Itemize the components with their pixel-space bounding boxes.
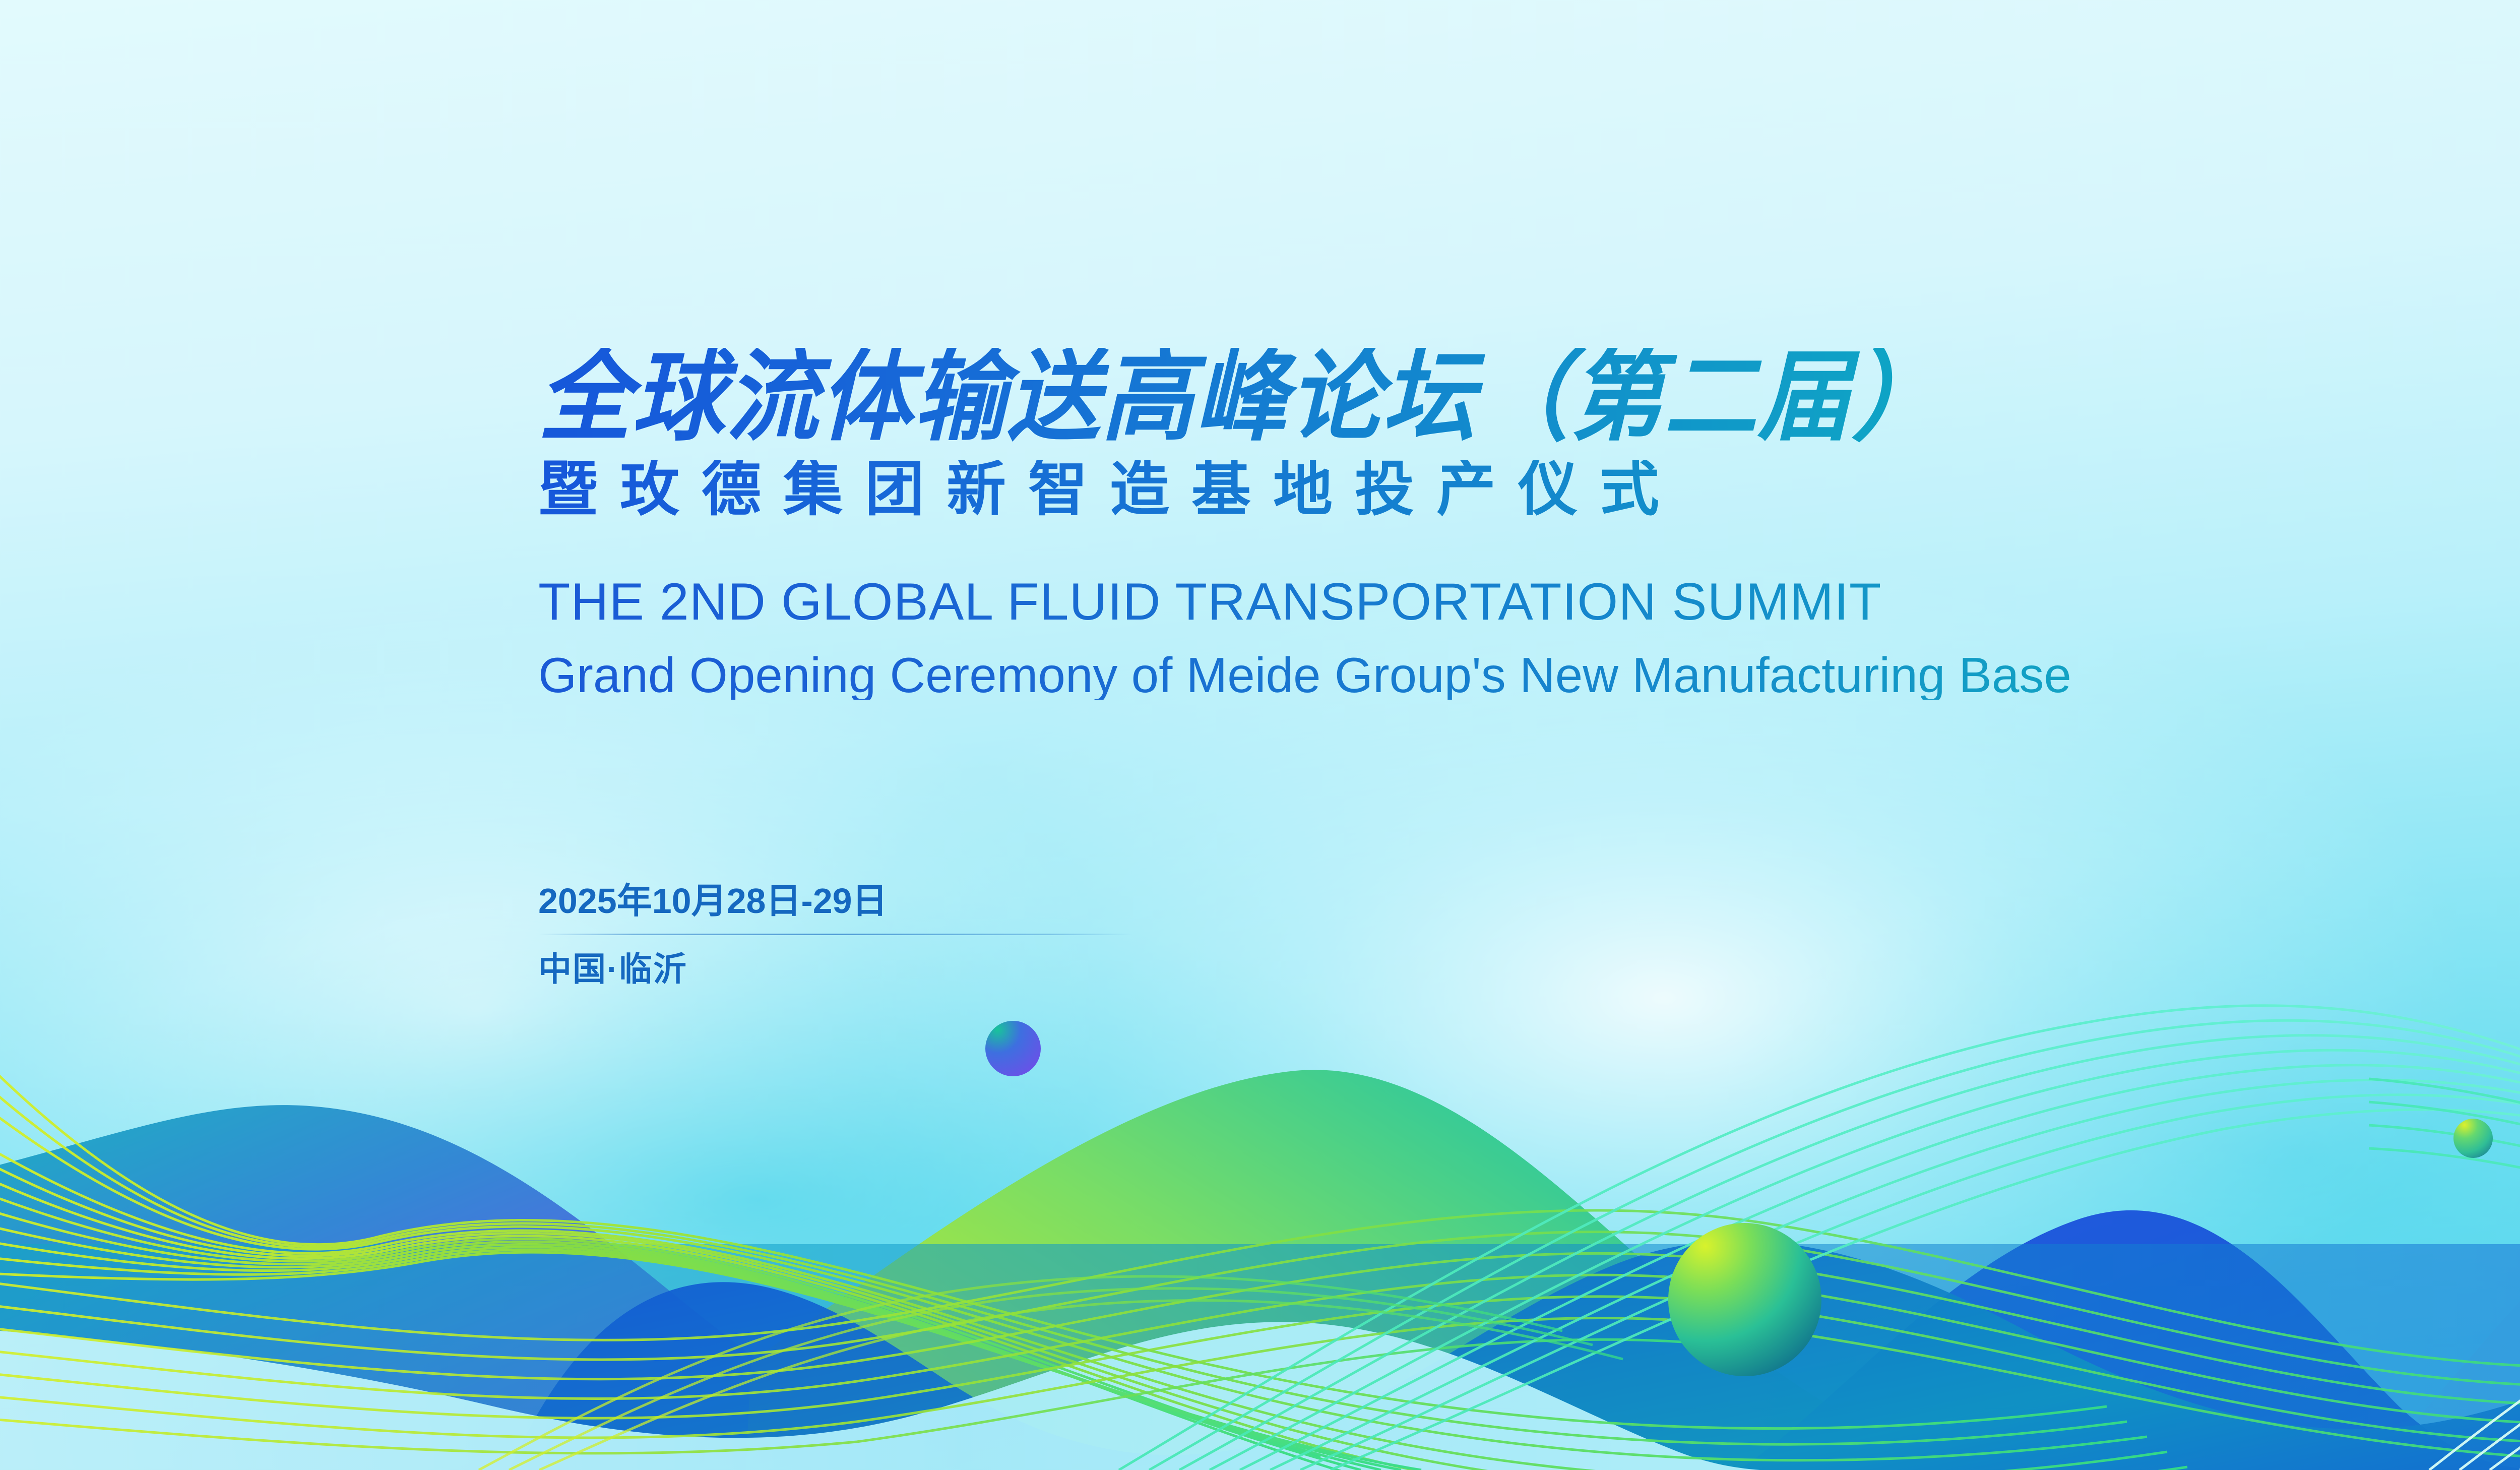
headline-group: 全球流体输送高峰论坛（第二届） 暨玫德集团新智造基地投产仪式 THE 2ND G… <box>538 348 2520 700</box>
meta-divider <box>538 934 1133 935</box>
page-subtitle: 暨玫德集团新智造基地投产仪式 <box>538 460 2520 519</box>
event-location: 中国·临沂 <box>538 952 1133 986</box>
sphere-tiny-green <box>2453 1119 2493 1158</box>
sphere-large-green <box>1668 1223 1821 1376</box>
page-title: 全球流体输送高峰论坛（第二届） <box>538 348 2520 447</box>
sphere-small-purple <box>985 1021 1041 1076</box>
english-title-lower: Grand Opening Ceremony of Meide Group's … <box>538 650 2520 700</box>
spheres-layer <box>0 0 2520 1470</box>
poster-canvas: 全球流体输送高峰论坛（第二届） 暨玫德集团新智造基地投产仪式 THE 2ND G… <box>0 0 2520 1470</box>
event-meta-group: 2025年10月28日-29日 中国·临沂 <box>538 883 1133 986</box>
event-date: 2025年10月28日-29日 <box>538 883 1133 918</box>
english-title-upper: THE 2ND GLOBAL FLUID TRANSPORTATION SUMM… <box>538 576 2520 628</box>
